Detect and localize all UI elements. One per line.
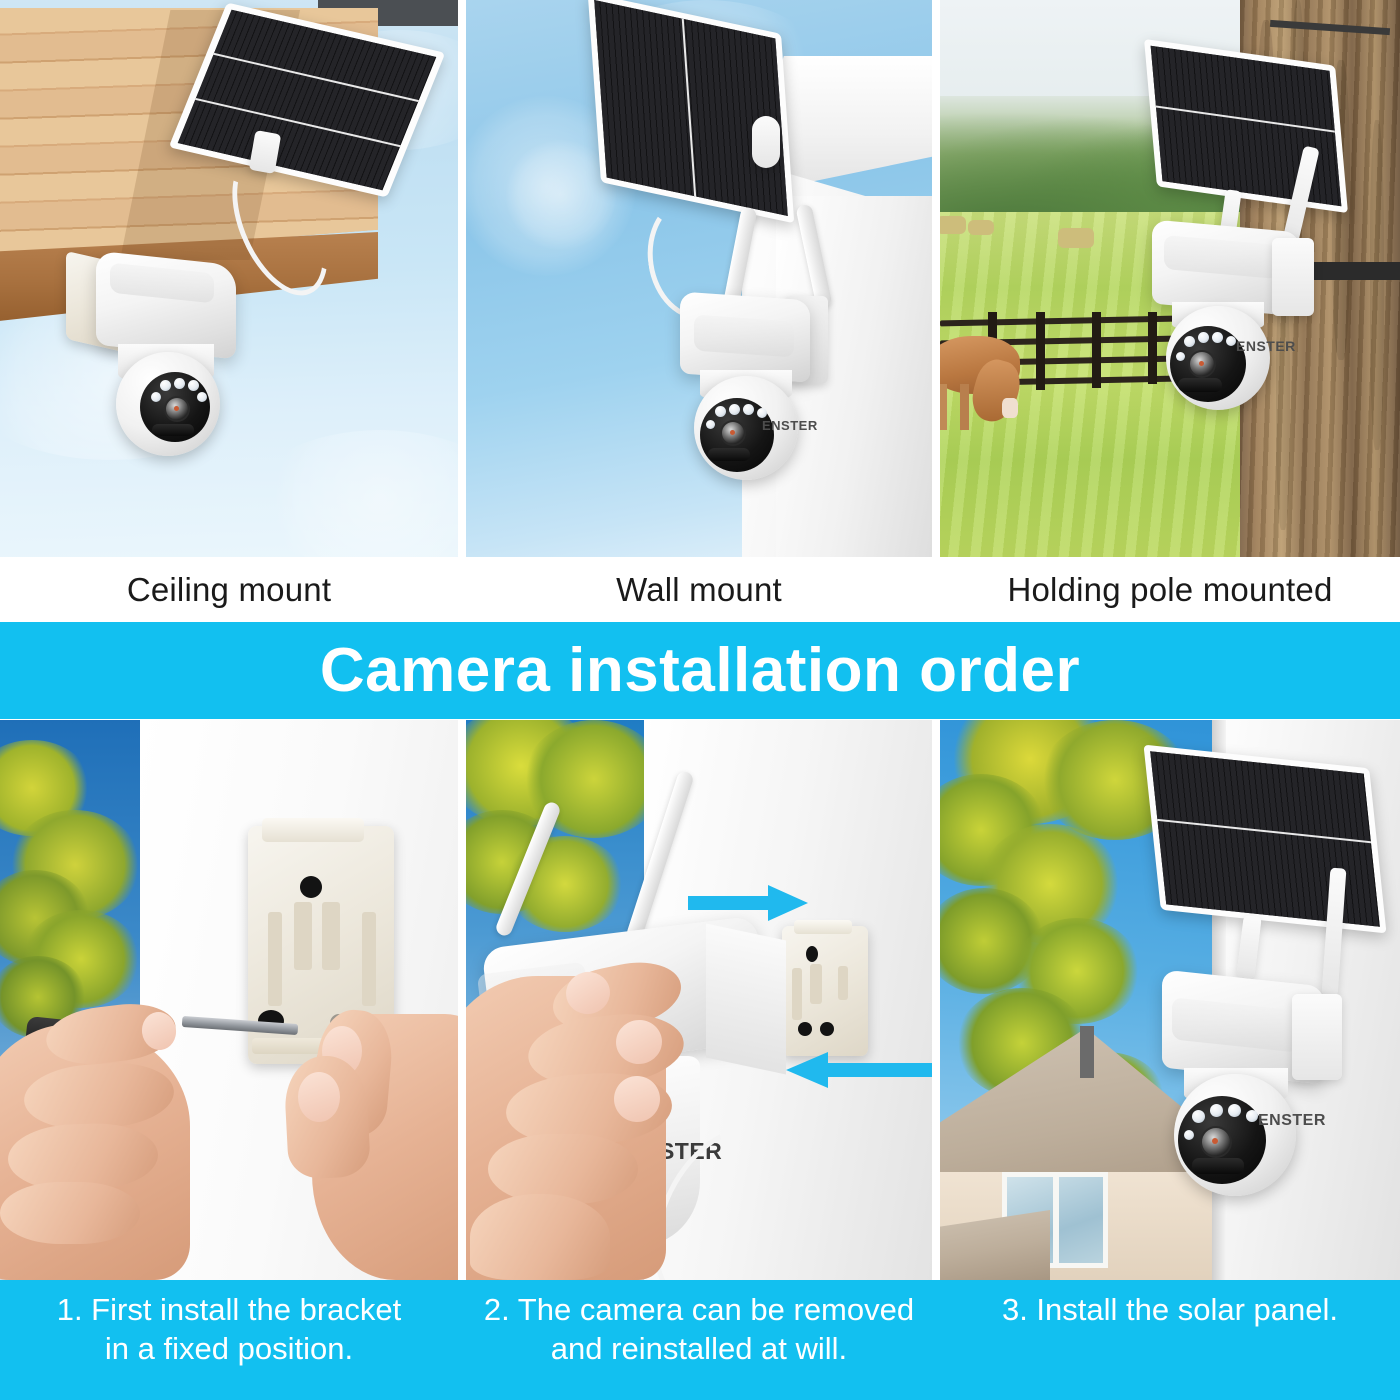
banner-title: Camera installation order — [320, 640, 1080, 702]
step-caption-2-line1: 2. The camera can be removed — [484, 1290, 914, 1329]
step-caption-1-line2: in a fixed position. — [105, 1329, 353, 1368]
arrow-left-icon — [786, 1052, 932, 1088]
step-caption-1-line1: 1. First install the bracket — [57, 1290, 402, 1329]
mount-label-wall: Wall mount — [466, 557, 932, 622]
brand-logo: ENSTER — [762, 418, 818, 433]
brand-logo: ENSTER — [1258, 1112, 1326, 1130]
step-caption-3: 3. Install the solar panel. — [940, 1280, 1400, 1400]
step-caption-1: 1. First install the bracket in a fixed … — [0, 1280, 458, 1400]
bracket-screw-hole — [300, 876, 322, 898]
mount-panel-pole-image: ENSTER — [940, 0, 1400, 557]
mount-panel-wall-image: ENSTER — [466, 0, 932, 557]
step-caption-2: 2. The camera can be removed and reinsta… — [466, 1280, 932, 1400]
step-panel-solar-image: ENSTER — [940, 720, 1400, 1280]
mount-label-ceiling: Ceiling mount — [0, 557, 458, 622]
step-caption-3-line1: 3. Install the solar panel. — [1002, 1290, 1338, 1329]
step-captions-bar: 1. First install the bracket in a fixed … — [0, 1280, 1400, 1400]
arrow-right-icon — [688, 885, 808, 921]
mount-labels-strip: Ceiling mount Wall mount Holding pole mo… — [0, 557, 1400, 622]
brand-logo: ENSTER — [1236, 338, 1296, 354]
solar-panel — [1143, 745, 1386, 934]
step-caption-2-line2: and reinstalled at will. — [551, 1329, 847, 1368]
installation-order-banner: Camera installation order — [0, 622, 1400, 719]
step-panel-bracket-image — [0, 720, 458, 1280]
mount-panel-ceiling-image — [0, 0, 458, 557]
solar-panel — [1144, 39, 1348, 213]
infographic-page: ENSTER — [0, 0, 1400, 1400]
mount-label-pole: Holding pole mounted — [940, 557, 1400, 622]
step-panel-remove-image: ENSTER — [466, 720, 932, 1280]
